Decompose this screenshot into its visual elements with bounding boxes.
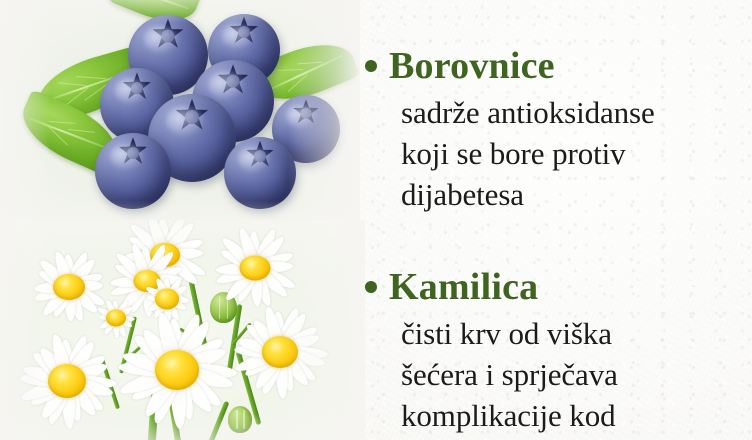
blueberry-calyx-core	[185, 110, 199, 124]
flower-center	[262, 336, 298, 368]
chamomile-flower	[213, 226, 297, 310]
blueberry-calyx-icon	[118, 137, 149, 168]
blueberry-calyx-core	[227, 75, 240, 88]
blueberry-calyx-icon	[174, 99, 210, 135]
blueberry	[224, 137, 296, 209]
blueberry-calyx-icon	[216, 64, 250, 98]
leaf-vein	[277, 69, 303, 71]
blueberry-calyx-icon	[245, 141, 275, 171]
chamomile-photo	[0, 220, 365, 440]
blueberry-calyx-core	[254, 150, 266, 162]
blueberries-photo	[0, 0, 360, 228]
entry-body: čisti krv od viška šećera i sprječava ko…	[401, 313, 752, 436]
body-line: sadrže antioksidanse	[401, 92, 752, 133]
entry-title: Kamilica	[389, 265, 538, 309]
flower-center	[240, 256, 271, 281]
blueberry-calyx-core	[127, 147, 139, 159]
entry-body: sadrže antioksidanse koji se bore protiv…	[401, 92, 752, 215]
leaf-vein	[49, 120, 76, 123]
blueberry-calyx-core	[301, 108, 312, 119]
leaf-vein	[121, 0, 188, 9]
blueberry-calyx-icon	[151, 19, 185, 53]
body-line: dijabetesa	[401, 174, 752, 215]
leaf-vein	[268, 54, 343, 90]
entry-heading-row: Kamilica	[360, 265, 752, 309]
flower-center	[53, 274, 85, 300]
chamomile-flower	[18, 334, 116, 428]
blueberry-calyx-core	[162, 29, 175, 42]
entry-kamilica: Kamilica čisti krv od viška šećera i spr…	[360, 265, 752, 436]
bullet-dot-icon	[365, 60, 377, 72]
blueberry-calyx-icon	[122, 72, 153, 103]
blueberry	[95, 133, 171, 209]
leaf-vein	[76, 76, 106, 79]
entry-title: Borovnice	[389, 44, 555, 88]
body-line: šećera i sprječava	[401, 354, 752, 395]
chamomile-flower	[232, 306, 328, 398]
blueberry-calyx-icon	[292, 99, 320, 127]
text-column: Borovnice sadrže antioksidanse koji se b…	[360, 0, 752, 440]
entry-heading-row: Borovnice	[360, 44, 752, 88]
leaf-vein	[58, 82, 86, 86]
entry-borovnice: Borovnice sadrže antioksidanse koji se b…	[360, 44, 752, 215]
bullet-dot-icon	[365, 281, 377, 293]
flower-center	[48, 364, 86, 398]
blueberry-calyx-core	[131, 82, 143, 94]
body-line: čisti krv od viška	[401, 313, 752, 354]
bud-ridge	[236, 410, 237, 429]
leaf-vein	[68, 129, 95, 133]
chamomile-flower	[118, 312, 236, 428]
flower-center	[155, 289, 179, 310]
body-line: komplikacije kod	[401, 395, 752, 436]
body-line: koji se bore protiv	[401, 133, 752, 174]
flower-center	[155, 350, 199, 390]
blueberry-calyx-core	[238, 26, 250, 38]
bud-ridge	[243, 410, 244, 429]
blueberry-calyx-icon	[229, 17, 260, 48]
health-tips-poster: Borovnice sadrže antioksidanse koji se b…	[0, 0, 752, 440]
